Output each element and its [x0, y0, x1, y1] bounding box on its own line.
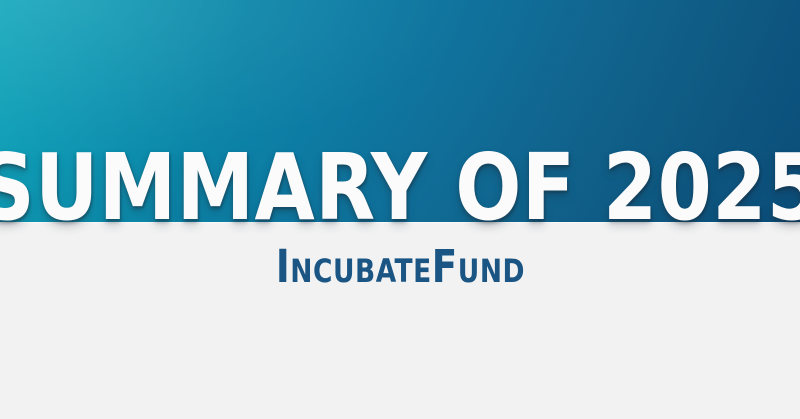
title-container: SUMMARY OF 2025	[0, 0, 800, 222]
brand-name: IncubateFund	[275, 244, 524, 289]
title-slide: SUMMARY OF 2025 IncubateFund	[0, 0, 800, 419]
page-title: SUMMARY OF 2025	[0, 154, 800, 222]
brand-subtitle: IncubateFund	[0, 244, 800, 289]
